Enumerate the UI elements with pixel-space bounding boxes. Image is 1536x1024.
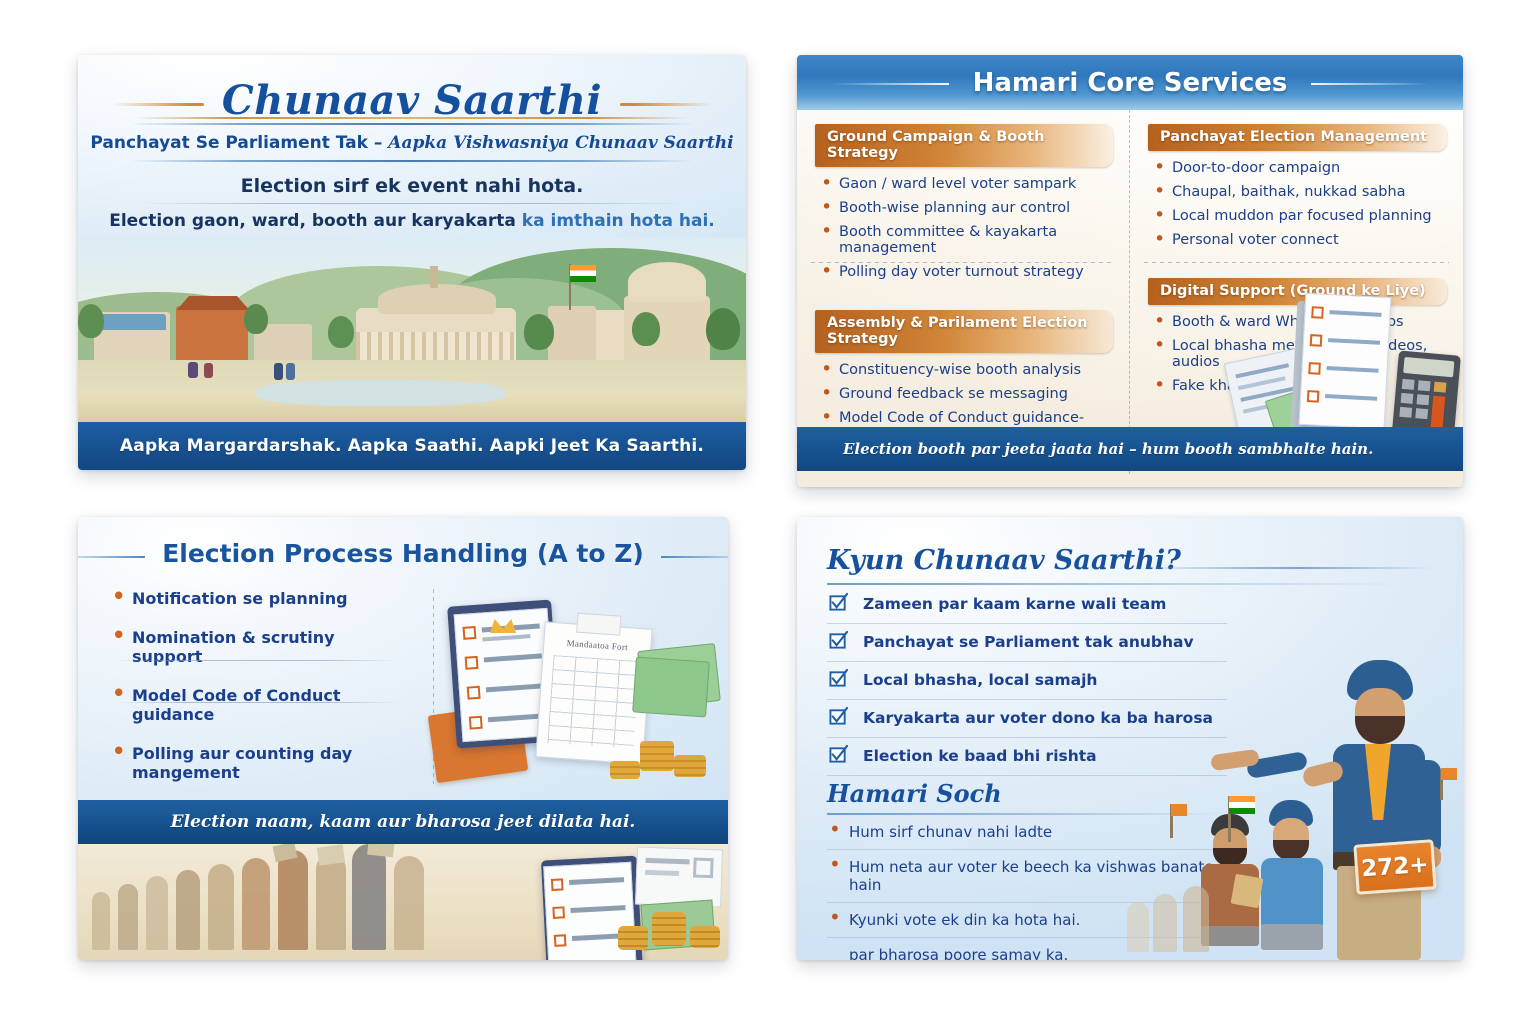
list-item: Model Code of Conduct guidance: [110, 686, 410, 724]
list-item: Ground feedback se messaging: [821, 386, 1113, 402]
subtitle-plain: Panchayat Se Parliament Tak –: [90, 133, 388, 153]
poster-canvas: Chunaav Saarthi Panchayat Se Parliament …: [0, 0, 1536, 1024]
nomination-form-illustration: Mandaatoa Fort: [428, 595, 718, 785]
checkbox-icon: [829, 593, 848, 612]
service-list-panchayat-management: Door-to-door campaign Chaupal, baithak, …: [1148, 160, 1447, 248]
card-title-footer: Aapka Margardarshak. Aapka Saathi. Aapki…: [78, 422, 746, 470]
footer-tagline: Aapka Margardarshak. Aapka Saathi. Aapki…: [120, 436, 704, 456]
subtitle-emphasis: Aapka Vishwasniya Chunaav Saarthi: [388, 133, 733, 153]
list-item: Booth committee & kayakarta management: [821, 224, 1113, 256]
why-heading: Kyun Chunaav Saarthi?: [827, 545, 1181, 576]
list-item: Polling aur counting day mangement: [110, 744, 410, 782]
lead-line-2: Election gaon, ward, booth aur karyakart…: [78, 211, 746, 231]
list-item: Model Code of Conduct guidance-: [821, 410, 1113, 426]
checkbox-icon: [829, 745, 848, 764]
gold-divider-top: [136, 117, 688, 119]
list-item: Local muddon par focused planning: [1154, 208, 1447, 224]
list-item: Door-to-door campaign: [1154, 160, 1447, 176]
card-core-services: Hamari Core Services Ground Campaign & B…: [797, 55, 1463, 487]
card-process-handling: Election Process Handling (A to Z) Notif…: [78, 517, 728, 960]
blue-divider-under-subtitle: [130, 160, 694, 162]
process-tagline: Election naam, kaam aur bharosa jeet dil…: [171, 812, 636, 832]
section-heading-ground-campaign: Ground Campaign & Booth Strategy: [815, 124, 1113, 167]
list-item: Zameen par kaam karne wali team: [827, 595, 1227, 624]
process-title: Election Process Handling (A to Z): [140, 539, 666, 568]
service-list-ground-campaign: Gaon / ward level voter sampark Booth-wi…: [815, 176, 1113, 280]
brand-subtitle: Panchayat Se Parliament Tak – Aapka Vish…: [78, 133, 746, 153]
soch-heading: Hamari Soch: [827, 779, 1002, 808]
core-services-strip: Election booth par jeeta jaata hai – hum…: [797, 427, 1463, 471]
faint-divider-1: [136, 203, 688, 204]
card-why-chunaav-saarthi: Kyun Chunaav Saarthi? Zameen par kaam ka…: [797, 517, 1463, 960]
core-services-title: Hamari Core Services: [943, 68, 1318, 98]
list-item-label: Local bhasha, local samajh: [863, 671, 1097, 689]
services-tagline: Election booth par jeeta jaata hai – hum…: [843, 440, 1373, 458]
process-title-row: Election Process Handling (A to Z): [78, 539, 728, 568]
list-item: Booth-wise planning aur control: [821, 200, 1113, 216]
section-heading-panchayat-management: Panchayat Election Management: [1148, 124, 1447, 151]
process-list: Notification se planning Nomination & sc…: [110, 589, 410, 802]
seats-badge: 272+: [1353, 839, 1436, 894]
services-column-left: Ground Campaign & Booth Strategy Gaon / …: [797, 110, 1130, 474]
core-services-header: Hamari Core Services: [797, 55, 1463, 110]
process-strip: Election naam, kaam aur bharosa jeet dil…: [78, 800, 728, 844]
crowd-illustration: [78, 844, 728, 960]
checkbox-icon: [829, 707, 848, 726]
list-item: Constituency-wise booth analysis: [821, 362, 1113, 378]
leader-supporters-illustration: [1133, 630, 1463, 960]
list-item: Chaupal, baithak, nukkad sabha: [1154, 184, 1447, 200]
blue-divider-top: [130, 123, 694, 125]
seats-badge-label: 272+: [1361, 852, 1430, 883]
documents-calculator-illustration: [1232, 297, 1457, 447]
lead2-part-a: Election gaon, ward, booth aur karyakart…: [109, 211, 522, 231]
lead2-part-b: ka imthain hota hai.: [522, 211, 715, 231]
list-item-label: Zameen par kaam karne wali team: [863, 595, 1166, 613]
list-item-label: Election ke baad bhi rishta: [863, 747, 1097, 765]
card-title: Chunaav Saarthi Panchayat Se Parliament …: [78, 55, 746, 470]
form-label: Mandaatoa Fort: [554, 637, 640, 653]
lead-line-1: Election sirf ek event nahi hota.: [78, 175, 746, 197]
checkbox-icon: [829, 631, 848, 650]
list-item: Notification se planning: [110, 589, 410, 608]
list-item: Polling day voter turnout strategy: [821, 264, 1113, 280]
section-heading-assembly-parliament: Assembly & Parilament Election Strategy: [815, 310, 1113, 353]
checkbox-icon: [829, 669, 848, 688]
village-parliament-illustration: [78, 237, 746, 422]
list-item: Gaon / ward level voter sampark: [821, 176, 1113, 192]
list-item: Personal voter connect: [1154, 232, 1447, 248]
